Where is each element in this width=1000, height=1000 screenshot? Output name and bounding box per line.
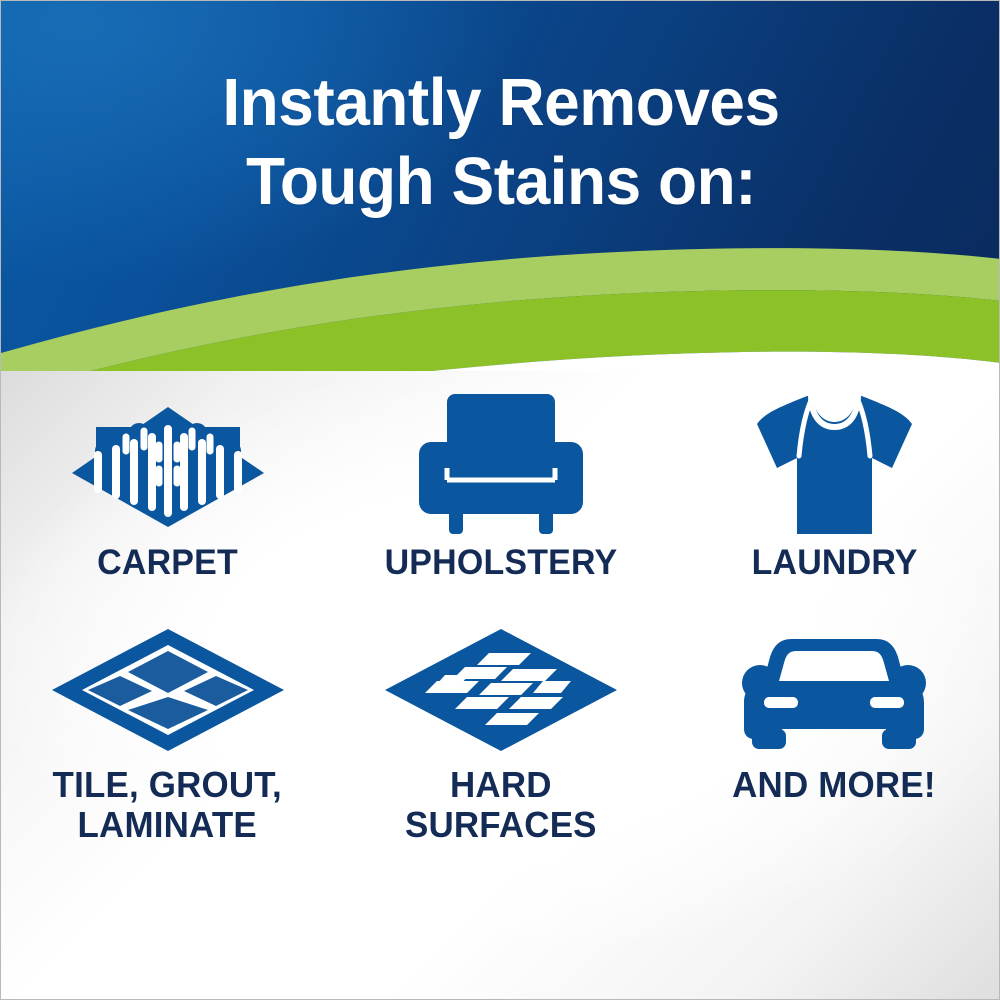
category-hard-surfaces: HARD SURFACES: [334, 615, 667, 847]
category-and-more: AND MORE!: [668, 615, 1000, 847]
category-laundry: LAUNDRY: [668, 383, 1000, 615]
category-upholstery: UPHOLSTERY: [334, 383, 667, 615]
category-label-and-more: AND MORE!: [733, 765, 937, 805]
category-label-tile-grout: TILE, GROUT, LAMINATE: [53, 765, 282, 846]
armchair-icon-wrap: [411, 383, 591, 543]
category-label-carpet: CARPET: [97, 543, 238, 582]
car-icon-wrap: [734, 615, 934, 765]
category-label-upholstery: UPHOLSTERY: [385, 543, 618, 582]
armchair-icon: [411, 388, 591, 538]
category-carpet: CARPET: [1, 383, 334, 615]
plank-floor-icon: [381, 625, 621, 755]
category-label-hard-surfaces: HARD SURFACES: [405, 765, 597, 846]
tshirt-icon-wrap: [747, 383, 922, 543]
tile-diamond-icon-wrap: [48, 615, 288, 765]
page-title: Instantly Removes Tough Stains on:: [24, 63, 979, 221]
product-infographic: Instantly Removes Tough Stains on:: [0, 0, 1000, 1000]
category-label-laundry: LAUNDRY: [751, 543, 917, 582]
tshirt-icon: [747, 386, 922, 541]
carpet-icon-wrap: [68, 383, 268, 543]
category-tile-grout: TILE, GROUT, LAMINATE: [1, 615, 334, 847]
car-icon: [734, 625, 934, 755]
tile-diamond-icon: [48, 625, 288, 755]
carpet-icon: [68, 393, 268, 533]
plank-floor-icon-wrap: [381, 615, 621, 765]
category-grid: CARPET UPHOLSTERY: [1, 383, 1000, 983]
